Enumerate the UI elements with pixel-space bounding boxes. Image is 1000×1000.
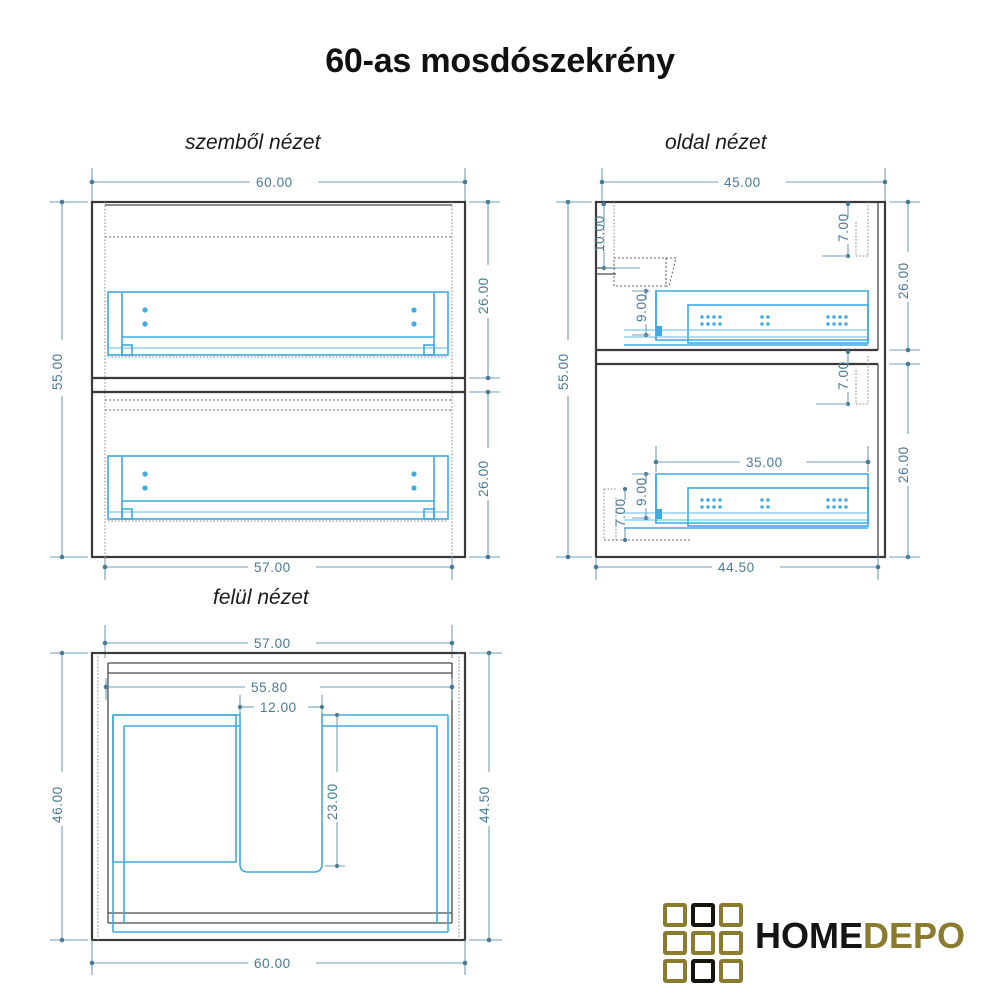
logo-grid-icon	[663, 903, 743, 983]
technical-drawing-canvas: 60-as mosdószekrény szemből nézet oldal …	[0, 0, 1000, 1000]
side-lower-drawer	[624, 474, 868, 528]
side-dim-bottom-width: 44.50	[718, 560, 755, 575]
logo-cell-2	[719, 903, 743, 927]
top-view-group: 57.00 55.80	[50, 625, 502, 975]
homedepo-logo: HOMEDEPO	[663, 903, 983, 987]
logo-cell-1	[691, 903, 715, 927]
front-dim-right-upper: 26.00	[476, 277, 491, 314]
side-dim-top-right-offset: 7.00	[836, 213, 851, 242]
top-dim-left-depth: 46.00	[50, 786, 65, 823]
top-dim-inner-width: 55.80	[251, 680, 288, 695]
logo-cell-6	[663, 959, 687, 983]
logo-cell-5	[719, 931, 743, 955]
side-dim-top-left-offset: 10.00	[592, 215, 607, 252]
side-dim-left-height: 55.00	[556, 353, 571, 390]
logo-wordmark: HOMEDEPO	[755, 915, 965, 957]
top-blue-panel	[113, 713, 448, 932]
front-dim-top-width: 60.00	[256, 175, 293, 190]
top-dim-bottom-width: 60.00	[254, 956, 291, 971]
top-dim-cutout-depth: 23.00	[325, 783, 340, 820]
side-dim-mid-right-offset: 7.00	[836, 361, 851, 390]
logo-text-home: HOME	[755, 915, 863, 956]
logo-cell-0	[663, 903, 687, 927]
side-dim-lower-left-offset: 7.00	[613, 498, 628, 527]
side-dim-upper-drawer-height: 9.00	[634, 293, 649, 322]
front-dim-left-height: 55.00	[50, 353, 65, 390]
side-dim-right-upper: 26.00	[896, 262, 911, 299]
front-upper-drawer	[108, 292, 448, 357]
top-dim-top-width: 57.00	[254, 636, 291, 651]
front-view-group: 60.00	[50, 168, 500, 580]
logo-cell-4	[691, 931, 715, 955]
logo-text-depo: DEPO	[863, 915, 965, 956]
side-upper-drawer	[624, 291, 868, 345]
logo-cell-7	[691, 959, 715, 983]
side-dim-drawer-depth: 35.00	[746, 455, 783, 470]
logo-cell-8	[719, 959, 743, 983]
front-dim-bottom-width: 57.00	[254, 560, 291, 575]
top-dim-cutout-width: 12.00	[260, 700, 297, 715]
logo-cell-3	[663, 931, 687, 955]
side-dim-lower-drawer-height: 9.00	[634, 477, 649, 506]
side-dim-right-lower: 26.00	[896, 446, 911, 483]
side-dim-top-width: 45.00	[724, 175, 761, 190]
front-lower-drawer	[108, 456, 448, 521]
front-dim-right-lower: 26.00	[476, 460, 491, 497]
drawing-svg: .ol{fill:none;stroke:#3a3a3a;stroke-widt…	[0, 0, 1000, 1000]
top-dim-right-depth: 44.50	[477, 786, 492, 823]
side-view-group: 45.00 10.00	[556, 168, 920, 580]
